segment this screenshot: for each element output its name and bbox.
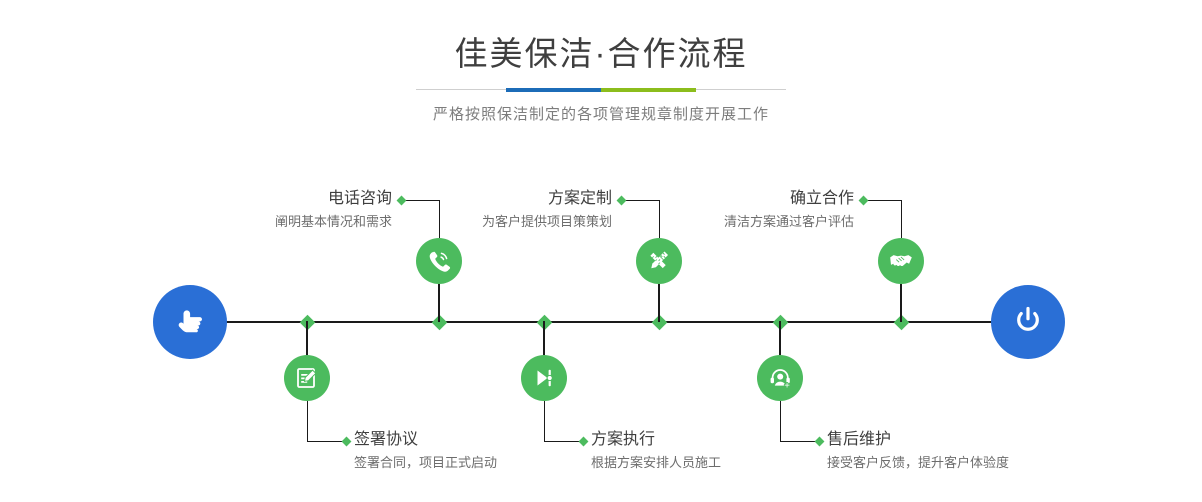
step-desc-1: 阐明基本情况和需求	[180, 212, 392, 231]
headset-support-icon	[767, 365, 793, 391]
step-connector-dot-2	[342, 437, 352, 447]
step-icon-4[interactable]	[521, 355, 567, 401]
timeline-start-node	[153, 285, 227, 359]
step-connector-h-2	[307, 441, 346, 442]
timeline-stem-1	[438, 284, 440, 322]
pointing-hand-icon	[170, 300, 210, 345]
step-desc-5: 接受客户反馈，提升客户体验度	[827, 453, 1127, 472]
step-connector-h-6	[863, 200, 902, 201]
step-icon-1[interactable]	[416, 238, 462, 284]
step-desc-6: 清洁方案通过客户评估	[640, 212, 854, 231]
step-icon-3[interactable]	[636, 238, 682, 284]
step-title-6: 确立合作	[640, 189, 854, 209]
timeline-stem-6	[900, 284, 902, 322]
step-connector-h-5	[780, 441, 819, 442]
timeline-end-node	[991, 285, 1065, 359]
process-timeline: 电话咨询 阐明基本情况和需求 签署协议 签署合同，项目正式启动	[0, 0, 1202, 502]
step-connector-v-2	[307, 401, 308, 441]
step-connector-dot-3	[617, 196, 627, 206]
document-edit-icon	[294, 365, 320, 391]
handshake-icon	[887, 247, 915, 275]
step-icon-2[interactable]	[284, 355, 330, 401]
step-desc-4: 根据方案安排人员施工	[591, 453, 851, 472]
step-desc-2: 签署合同，项目正式启动	[354, 453, 614, 472]
power-icon	[1008, 300, 1048, 345]
timeline-stem-5	[779, 321, 781, 355]
step-connector-h-4	[544, 441, 583, 442]
play-execute-icon	[531, 365, 557, 391]
phone-call-icon	[425, 247, 453, 275]
step-icon-6[interactable]	[878, 238, 924, 284]
step-title-2: 签署协议	[354, 430, 614, 450]
step-label-4: 方案执行 根据方案安排人员施工	[591, 430, 851, 472]
step-connector-dot-6	[859, 196, 869, 206]
step-icon-5[interactable]	[757, 355, 803, 401]
timeline-stem-4	[543, 321, 545, 355]
step-title-3: 方案定制	[400, 189, 612, 209]
step-connector-v-5	[780, 401, 781, 441]
step-label-2: 签署协议 签署合同，项目正式启动	[354, 430, 614, 472]
timeline-stem-3	[658, 284, 660, 322]
step-title-1: 电话咨询	[180, 189, 392, 209]
step-connector-v-4	[544, 401, 545, 441]
step-connector-v-6	[901, 200, 902, 238]
step-label-1: 电话咨询 阐明基本情况和需求	[180, 189, 392, 231]
step-label-3: 方案定制 为客户提供项目策策划	[400, 189, 612, 231]
step-title-5: 售后维护	[827, 430, 1127, 450]
step-label-5: 售后维护 接受客户反馈，提升客户体验度	[827, 430, 1127, 472]
step-desc-3: 为客户提供项目策策划	[400, 212, 612, 231]
step-title-4: 方案执行	[591, 430, 851, 450]
step-label-6: 确立合作 清洁方案通过客户评估	[640, 189, 854, 231]
timeline-stem-2	[306, 321, 308, 355]
pencil-ruler-icon	[646, 248, 672, 274]
